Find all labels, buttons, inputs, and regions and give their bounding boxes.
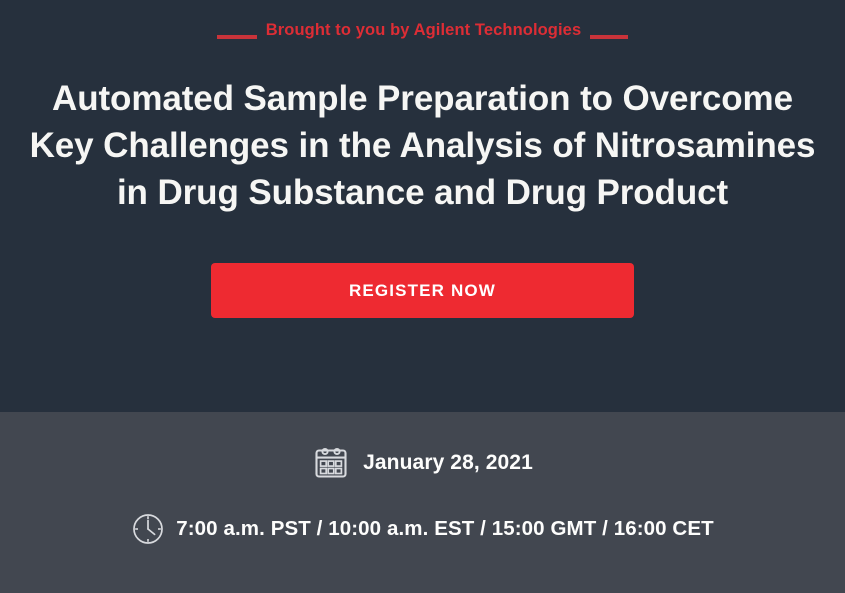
page-title-line-3: in Drug Substance and Drug Product (30, 169, 816, 216)
calendar-icon (312, 444, 350, 482)
page-title-line-1: Automated Sample Preparation to Overcome (30, 75, 816, 122)
page-title-line-2: Key Challenges in the Analysis of Nitros… (30, 122, 816, 169)
page-title: Automated Sample Preparation to Overcome… (12, 75, 834, 216)
tagline-right-rule-decoration (590, 35, 628, 39)
event-time-text: 7:00 a.m. PST / 10:00 a.m. EST / 15:00 G… (176, 517, 713, 541)
hero-panel: Brought to you by Agilent Technologies A… (0, 0, 845, 412)
event-date-text: January 28, 2021 (363, 451, 533, 475)
register-now-button[interactable]: REGISTER NOW (211, 263, 634, 318)
sponsor-tagline: Brought to you by Agilent Technologies (217, 19, 628, 41)
event-details-panel: January 28, 2021 7:00 a.m. PST / 10:00 a… (0, 412, 845, 593)
webinar-promo-banner: Brought to you by Agilent Technologies A… (0, 0, 845, 593)
tagline-left-rule-decoration (217, 35, 257, 39)
event-date-row: January 28, 2021 (312, 444, 533, 482)
event-time-row: 7:00 a.m. PST / 10:00 a.m. EST / 15:00 G… (131, 512, 713, 546)
clock-icon (131, 512, 165, 546)
sponsor-tagline-text: Brought to you by Agilent Technologies (266, 20, 581, 40)
